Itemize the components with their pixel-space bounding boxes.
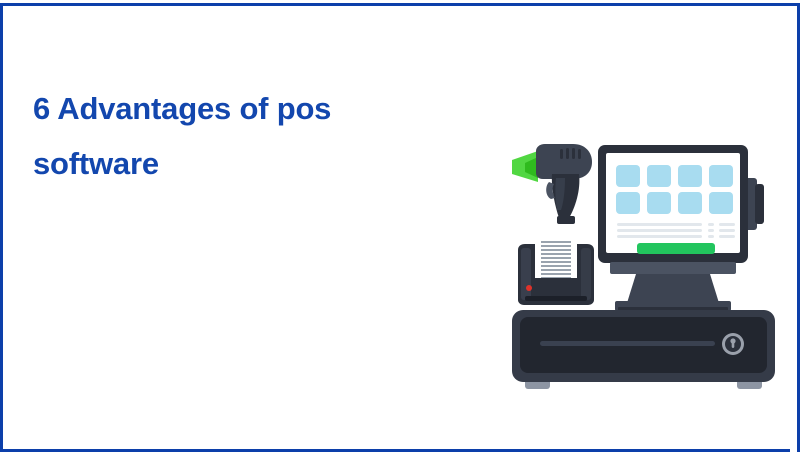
page-title-line-1: 6 Advantages of pos	[33, 81, 463, 136]
screen-tile	[678, 165, 702, 187]
border-left	[0, 3, 3, 452]
page-root: 6 Advantages of pos software	[0, 0, 800, 455]
page-title-line-2: software	[33, 136, 463, 191]
screen-tile	[678, 192, 702, 214]
monitor-stand	[610, 262, 736, 313]
pos-terminal-illustration	[505, 138, 790, 400]
pos-illustration-svg	[505, 138, 790, 400]
screen-tile	[616, 192, 640, 214]
checkout-button[interactable]	[637, 243, 715, 254]
printer-left-panel	[521, 248, 531, 300]
receipt-printer	[518, 238, 594, 305]
barcode-scanner	[512, 144, 592, 224]
scanner-head	[536, 144, 592, 179]
printer-right-panel	[581, 248, 591, 300]
screen-tile	[709, 192, 733, 214]
drawer-pull-slot	[540, 341, 715, 346]
border-bottom	[0, 449, 790, 452]
screen-tile	[647, 165, 671, 187]
border-top	[0, 3, 800, 6]
printer-power-led	[526, 285, 532, 291]
screen-tile	[647, 192, 671, 214]
drawer-keyhole-slot	[732, 341, 735, 348]
screen-tile	[709, 165, 733, 187]
cash-drawer	[512, 310, 775, 389]
page-title: 6 Advantages of pos software	[33, 81, 463, 191]
printer-slot	[525, 296, 587, 301]
scanner-base	[557, 216, 575, 224]
screen-tile	[616, 165, 640, 187]
